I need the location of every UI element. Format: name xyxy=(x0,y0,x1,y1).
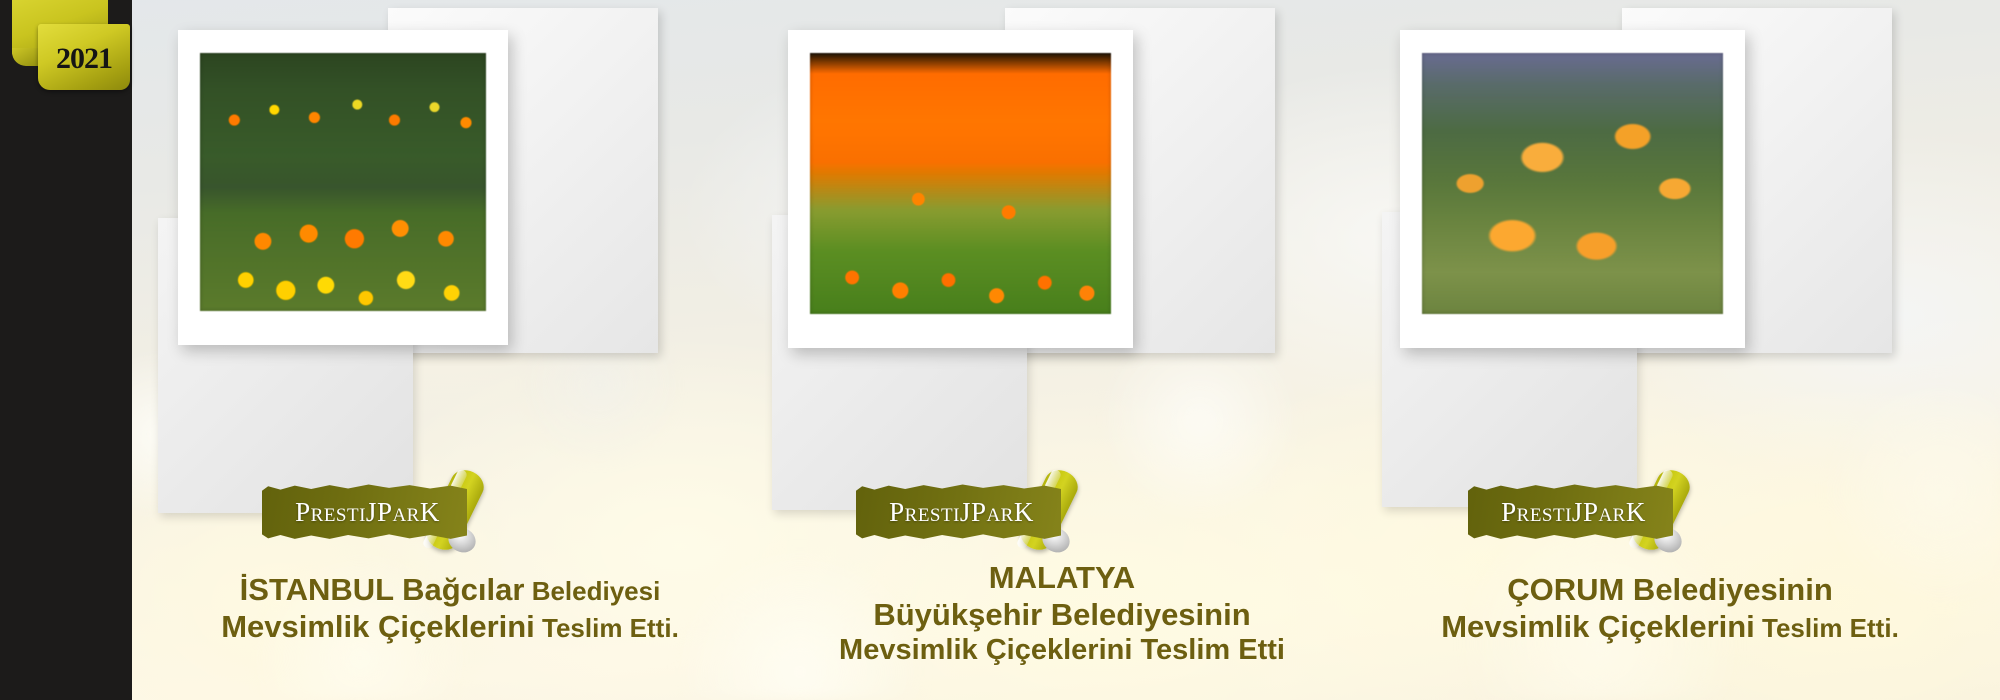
marigold-field-photo xyxy=(200,53,486,311)
prestijpark-logo-banner[interactable]: PrestiJParK xyxy=(1468,462,1728,554)
caption-line-1: İSTANBUL Bağcılar Belediyesi xyxy=(140,572,760,609)
photo-card-main[interactable] xyxy=(178,30,508,345)
caption-city: İSTANBUL Bağcılar xyxy=(240,572,525,607)
caption-line-2: Büyükşehir Belediyesinin xyxy=(752,597,1372,634)
promotional-banner: 2021 PrestiJParK İSTANB xyxy=(0,0,2000,700)
photo-card-main[interactable] xyxy=(788,30,1133,348)
column-istanbul: PrestiJParK İSTANBUL Bağcılar Belediyesi… xyxy=(140,0,760,700)
logo-flag: PrestiJParK xyxy=(262,484,467,540)
prestijpark-logo-banner[interactable]: PrestiJParK xyxy=(856,462,1116,554)
caption-subject: Mevsimlik Çiçeklerini xyxy=(1441,609,1755,644)
prestijpark-logo-banner[interactable]: PrestiJParK xyxy=(262,462,522,554)
photo-card-main[interactable] xyxy=(1400,30,1745,348)
caption-malatya: MALATYA Büyükşehir Belediyesinin Mevsiml… xyxy=(752,560,1372,667)
caption-subject: Mevsimlik Çiçeklerini xyxy=(221,609,535,644)
brand-logo-text: PrestiJParK xyxy=(295,497,440,528)
photo-stack-malatya xyxy=(760,0,1380,470)
photo-stack-istanbul xyxy=(140,0,760,470)
caption-line-3: Mevsimlik Çiçeklerini Teslim Etti xyxy=(752,633,1372,667)
caption-line-1: ÇORUM Belediyesinin xyxy=(1360,572,1980,609)
caption-line-2: Mevsimlik Çiçeklerini Teslim Etti. xyxy=(140,609,760,646)
photo-stack-corum xyxy=(1372,0,1992,470)
left-dark-rail: 2021 xyxy=(0,0,132,700)
logo-flag: PrestiJParK xyxy=(1468,484,1673,540)
calendar-year-label: 2021 xyxy=(56,44,112,74)
caption-corum: ÇORUM Belediyesinin Mevsimlik Çiçeklerin… xyxy=(1360,572,1980,645)
column-malatya: PrestiJParK MALATYA Büyükşehir Belediyes… xyxy=(760,0,1380,700)
column-corum: PrestiJParK ÇORUM Belediyesinin Mevsimli… xyxy=(1372,0,1992,700)
brand-logo-text: PrestiJParK xyxy=(889,497,1034,528)
caption-line-2: Mevsimlik Çiçeklerini Teslim Etti. xyxy=(1360,609,1980,646)
calendar-front-page: 2021 xyxy=(38,24,130,90)
caption-action: Teslim Etti. xyxy=(535,613,679,643)
caption-line-1: MALATYA xyxy=(752,560,1372,597)
calendar-icon: 2021 xyxy=(14,0,130,104)
logo-flag: PrestiJParK xyxy=(856,484,1061,540)
daylily-photo xyxy=(1422,53,1723,314)
caption-suffix: Belediyesi xyxy=(524,576,660,606)
calendula-field-photo xyxy=(810,53,1111,314)
caption-istanbul: İSTANBUL Bağcılar Belediyesi Mevsimlik Ç… xyxy=(140,572,760,645)
columns-container: PrestiJParK İSTANBUL Bağcılar Belediyesi… xyxy=(132,0,2000,700)
caption-action: Teslim Etti. xyxy=(1755,613,1899,643)
brand-logo-text: PrestiJParK xyxy=(1501,497,1646,528)
